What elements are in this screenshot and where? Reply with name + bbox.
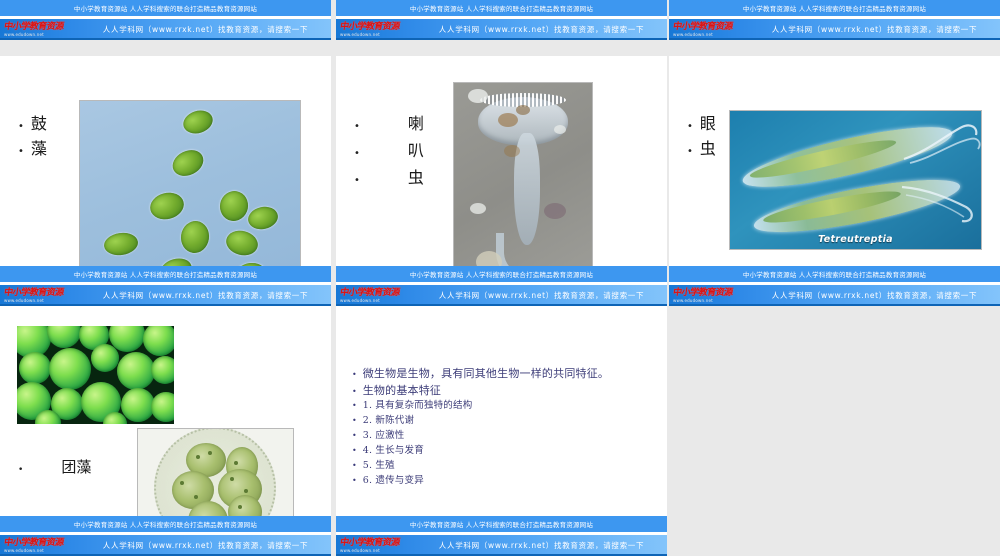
list-item: • 叭 bbox=[354, 143, 424, 159]
list-item: • 眼 bbox=[687, 116, 716, 132]
list-item: • 6. 遗传与变异 bbox=[352, 476, 657, 486]
footer-bottom-bar: 中小学教育资源 www.edudown.net 人人学科网（www.rrxk.n… bbox=[0, 19, 331, 40]
slide-top-right[interactable]: 中小学教育资源站 人人学科搜索的联合打造精品教育资源网站 中小学教育资源 www… bbox=[669, 0, 1000, 40]
footer-bars: 中小学教育资源站 人人学科搜索的联合打造精品教育资源网站 中小学教育资源 www… bbox=[0, 266, 331, 306]
bullet-dot: • bbox=[352, 417, 357, 425]
slide-stentor[interactable]: • 喇 • 叭 • 虫 bbox=[336, 56, 667, 306]
stentor-photo bbox=[453, 82, 593, 290]
bullet-dot: • bbox=[354, 176, 360, 186]
footer-bottom-text: 人人学科网（www.rrxk.net）找教育资源，请搜索一下 bbox=[755, 24, 1000, 35]
footer-bottom-text: 人人学科网（www.rrxk.net）找教育资源，请搜索一下 bbox=[86, 290, 331, 301]
site-logo: 中小学教育资源 www.edudown.net bbox=[669, 285, 755, 306]
slide-top-middle[interactable]: 中小学教育资源站 人人学科搜索的联合打造精品教育资源网站 中小学教育资源 www… bbox=[336, 0, 667, 40]
list-item: • 团藻 bbox=[18, 460, 91, 475]
footer-top-text: 中小学教育资源站 人人学科搜索的联合打造精品教育资源网站 bbox=[336, 266, 667, 282]
bullet-dot: • bbox=[352, 388, 357, 396]
site-logo: 中小学教育资源 www.edudown.net bbox=[0, 19, 86, 40]
flagellum-icon bbox=[900, 117, 982, 177]
bullet-dot: • bbox=[352, 371, 357, 379]
list-item: • 藻 bbox=[18, 141, 47, 157]
bullet-dot: • bbox=[354, 149, 360, 159]
list-item: • 生物的基本特征 bbox=[352, 385, 657, 396]
footer-bars: 中小学教育资源站 人人学科搜索的联合打造精品教育资源网站 中小学教育资源 www… bbox=[0, 0, 331, 40]
footer-top-text: 中小学教育资源站 人人学科搜索的联合打造精品教育资源网站 bbox=[669, 0, 1000, 16]
volvox-caption: • 团藻 bbox=[18, 460, 91, 475]
bullet-dot: • bbox=[354, 122, 360, 132]
bullet-dot: • bbox=[18, 466, 23, 475]
list-item: • 2. 新陈代谢 bbox=[352, 416, 657, 426]
list-item: • 喇 bbox=[354, 116, 424, 132]
flagellum-icon bbox=[896, 175, 982, 233]
diatom-photo: 搜狐社区 bbox=[79, 100, 301, 286]
euglena-caption: • 眼 • 虫 bbox=[687, 116, 716, 166]
footer-bottom-text: 人人学科网（www.rrxk.net）找教育资源，请搜索一下 bbox=[86, 24, 331, 35]
footer-top-text: 中小学教育资源站 人人学科搜索的联合打造精品教育资源网站 bbox=[0, 266, 331, 282]
bullet-dot: • bbox=[352, 462, 357, 470]
footer-bars: 中小学教育资源站 人人学科搜索的联合打造精品教育资源网站 中小学教育资源 www… bbox=[669, 266, 1000, 306]
footer-top-text: 中小学教育资源站 人人学科搜索的联合打造精品教育资源网站 bbox=[669, 266, 1000, 282]
footer-bottom-text: 人人学科网（www.rrxk.net）找教育资源，请搜索一下 bbox=[422, 540, 667, 551]
euglena-photo: Tetreutreptia bbox=[729, 110, 982, 250]
footer-top-text: 中小学教育资源站 人人学科搜索的联合打造精品教育资源网站 bbox=[336, 516, 667, 532]
footer-bottom-text: 人人学科网（www.rrxk.net）找教育资源，请搜索一下 bbox=[755, 290, 1000, 301]
features-list: • 微生物是生物，具有同其他生物一样的共同特征。 • 生物的基本特征 • 1. … bbox=[352, 368, 657, 491]
list-item: • 5. 生殖 bbox=[352, 461, 657, 471]
image-label: Tetreutreptia bbox=[730, 234, 981, 245]
slide-euglena[interactable]: • 眼 • 虫 bbox=[669, 56, 1000, 306]
bullet-dot: • bbox=[687, 147, 693, 157]
footer-bars: 中小学教育资源站 人人学科搜索的联合打造精品教育资源网站 中小学教育资源 www… bbox=[669, 0, 1000, 40]
bullet-dot: • bbox=[352, 447, 357, 455]
footer-bars: 中小学教育资源站 人人学科搜索的联合打造精品教育资源网站 中小学教育资源 www… bbox=[0, 516, 331, 556]
site-logo: 中小学教育资源 www.edudown.net bbox=[336, 285, 422, 306]
footer-top-text: 中小学教育资源站 人人学科搜索的联合打造精品教育资源网站 bbox=[336, 0, 667, 16]
slide-volvox[interactable]: • 团藻 bbox=[0, 306, 331, 556]
footer-bottom-bar: 中小学教育资源 www.edudown.net 人人学科网（www.rrxk.n… bbox=[336, 19, 667, 40]
list-item: • 3. 应激性 bbox=[352, 431, 657, 441]
volvox-darkfield-photo bbox=[17, 326, 174, 424]
bullet-dot: • bbox=[687, 122, 693, 132]
slide-thumbnail-grid: 中小学教育资源站 人人学科搜索的联合打造精品教育资源网站 中小学教育资源 www… bbox=[0, 0, 1000, 556]
slide-empty bbox=[669, 306, 1000, 556]
footer-bars: 中小学教育资源站 人人学科搜索的联合打造精品教育资源网站 中小学教育资源 www… bbox=[336, 516, 667, 556]
footer-bottom-bar: 中小学教育资源 www.edudown.net 人人学科网（www.rrxk.n… bbox=[0, 285, 331, 306]
footer-bottom-text: 人人学科网（www.rrxk.net）找教育资源，请搜索一下 bbox=[422, 24, 667, 35]
list-item: • 4. 生长与发育 bbox=[352, 446, 657, 456]
footer-bars: 中小学教育资源站 人人学科搜索的联合打造精品教育资源网站 中小学教育资源 www… bbox=[336, 266, 667, 306]
site-logo: 中小学教育资源 www.edudown.net bbox=[336, 535, 422, 556]
bullet-dot: • bbox=[352, 402, 357, 410]
footer-bottom-bar: 中小学教育资源 www.edudown.net 人人学科网（www.rrxk.n… bbox=[669, 19, 1000, 40]
list-item: • 1. 具有复杂而独特的结构 bbox=[352, 401, 657, 411]
slide-diatom[interactable]: • 鼓 • 藻 搜狐社区 bbox=[0, 56, 331, 306]
list-item: • 虫 bbox=[687, 141, 716, 157]
diatom-caption: • 鼓 • 藻 bbox=[18, 116, 47, 166]
slide-top-left[interactable]: 中小学教育资源站 人人学科搜索的联合打造精品教育资源网站 中小学教育资源 www… bbox=[0, 0, 331, 40]
footer-bottom-text: 人人学科网（www.rrxk.net）找教育资源，请搜索一下 bbox=[422, 290, 667, 301]
bullet-dot: • bbox=[18, 147, 24, 157]
site-logo: 中小学教育资源 www.edudown.net bbox=[0, 535, 86, 556]
bullet-dot: • bbox=[18, 122, 24, 132]
footer-bars: 中小学教育资源站 人人学科搜索的联合打造精品教育资源网站 中小学教育资源 www… bbox=[336, 0, 667, 40]
site-logo: 中小学教育资源 www.edudown.net bbox=[669, 19, 755, 40]
footer-bottom-text: 人人学科网（www.rrxk.net）找教育资源，请搜索一下 bbox=[86, 540, 331, 551]
footer-top-text: 中小学教育资源站 人人学科搜索的联合打造精品教育资源网站 bbox=[0, 516, 331, 532]
footer-top-text: 中小学教育资源站 人人学科搜索的联合打造精品教育资源网站 bbox=[0, 0, 331, 16]
bullet-dot: • bbox=[352, 432, 357, 440]
list-item: • 鼓 bbox=[18, 116, 47, 132]
slide-features[interactable]: • 微生物是生物，具有同其他生物一样的共同特征。 • 生物的基本特征 • 1. … bbox=[336, 306, 667, 556]
footer-bottom-bar: 中小学教育资源 www.edudown.net 人人学科网（www.rrxk.n… bbox=[336, 285, 667, 306]
footer-bottom-bar: 中小学教育资源 www.edudown.net 人人学科网（www.rrxk.n… bbox=[336, 535, 667, 556]
site-logo: 中小学教育资源 www.edudown.net bbox=[0, 285, 86, 306]
footer-bottom-bar: 中小学教育资源 www.edudown.net 人人学科网（www.rrxk.n… bbox=[669, 285, 1000, 306]
list-item: • 微生物是生物，具有同其他生物一样的共同特征。 bbox=[352, 368, 657, 379]
bullet-dot: • bbox=[352, 477, 357, 485]
list-item: • 虫 bbox=[354, 170, 424, 186]
stentor-caption: • 喇 • 叭 • 虫 bbox=[354, 116, 424, 197]
site-logo: 中小学教育资源 www.edudown.net bbox=[336, 19, 422, 40]
footer-bottom-bar: 中小学教育资源 www.edudown.net 人人学科网（www.rrxk.n… bbox=[0, 535, 331, 556]
